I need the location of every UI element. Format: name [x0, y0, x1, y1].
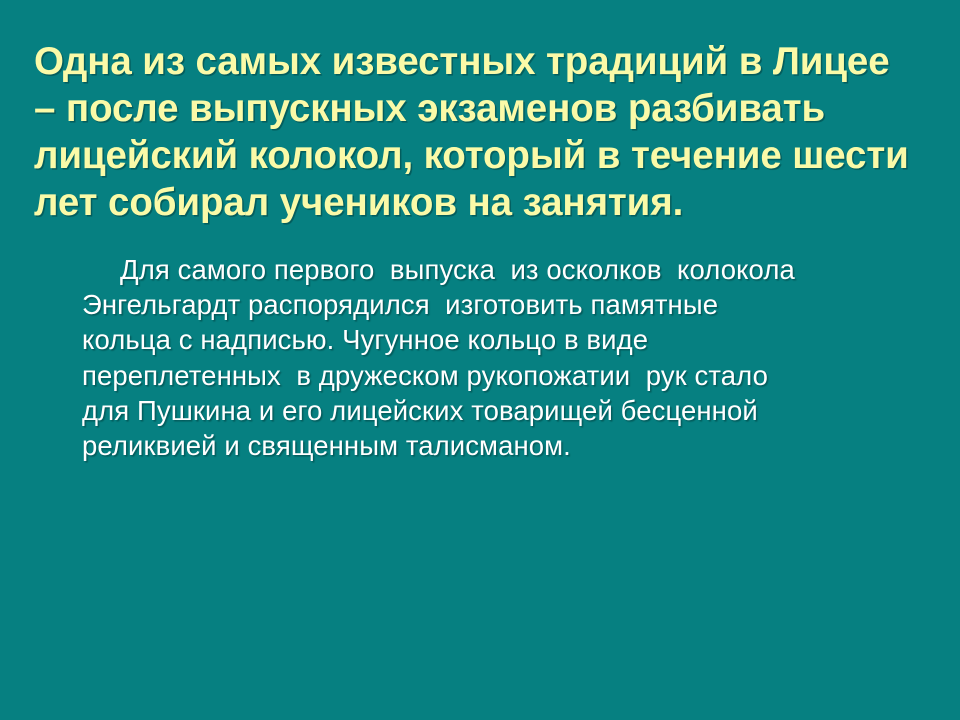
body-line-1: Для самого первого выпуска из осколков к…	[82, 252, 942, 287]
title-line-4: лет собирал учеников на занятия.	[34, 179, 924, 226]
slide-title: Одна из самых известных традиций в Лицее…	[34, 38, 924, 226]
body-line-5: для Пушкина и его лицейских товарищей бе…	[82, 393, 942, 428]
body-line-2: Энгельгардт распорядился изготовить памя…	[82, 287, 942, 322]
title-line-3: лицейский колокол, который в течение шес…	[34, 132, 924, 179]
presentation-slide: Одна из самых известных традиций в Лицее…	[0, 0, 960, 720]
title-line-2: – после выпускных экзаменов разбивать	[34, 85, 924, 132]
body-line-3: кольца с надписью. Чугунное кольцо в вид…	[82, 322, 942, 357]
body-line-6: реликвией и священным талисманом.	[82, 428, 942, 463]
body-line-4: переплетенных в дружеском рукопожатии ру…	[82, 358, 942, 393]
slide-body-text: Для самого первого выпуска из осколков к…	[82, 252, 942, 463]
title-line-1: Одна из самых известных традиций в Лицее	[34, 38, 924, 85]
